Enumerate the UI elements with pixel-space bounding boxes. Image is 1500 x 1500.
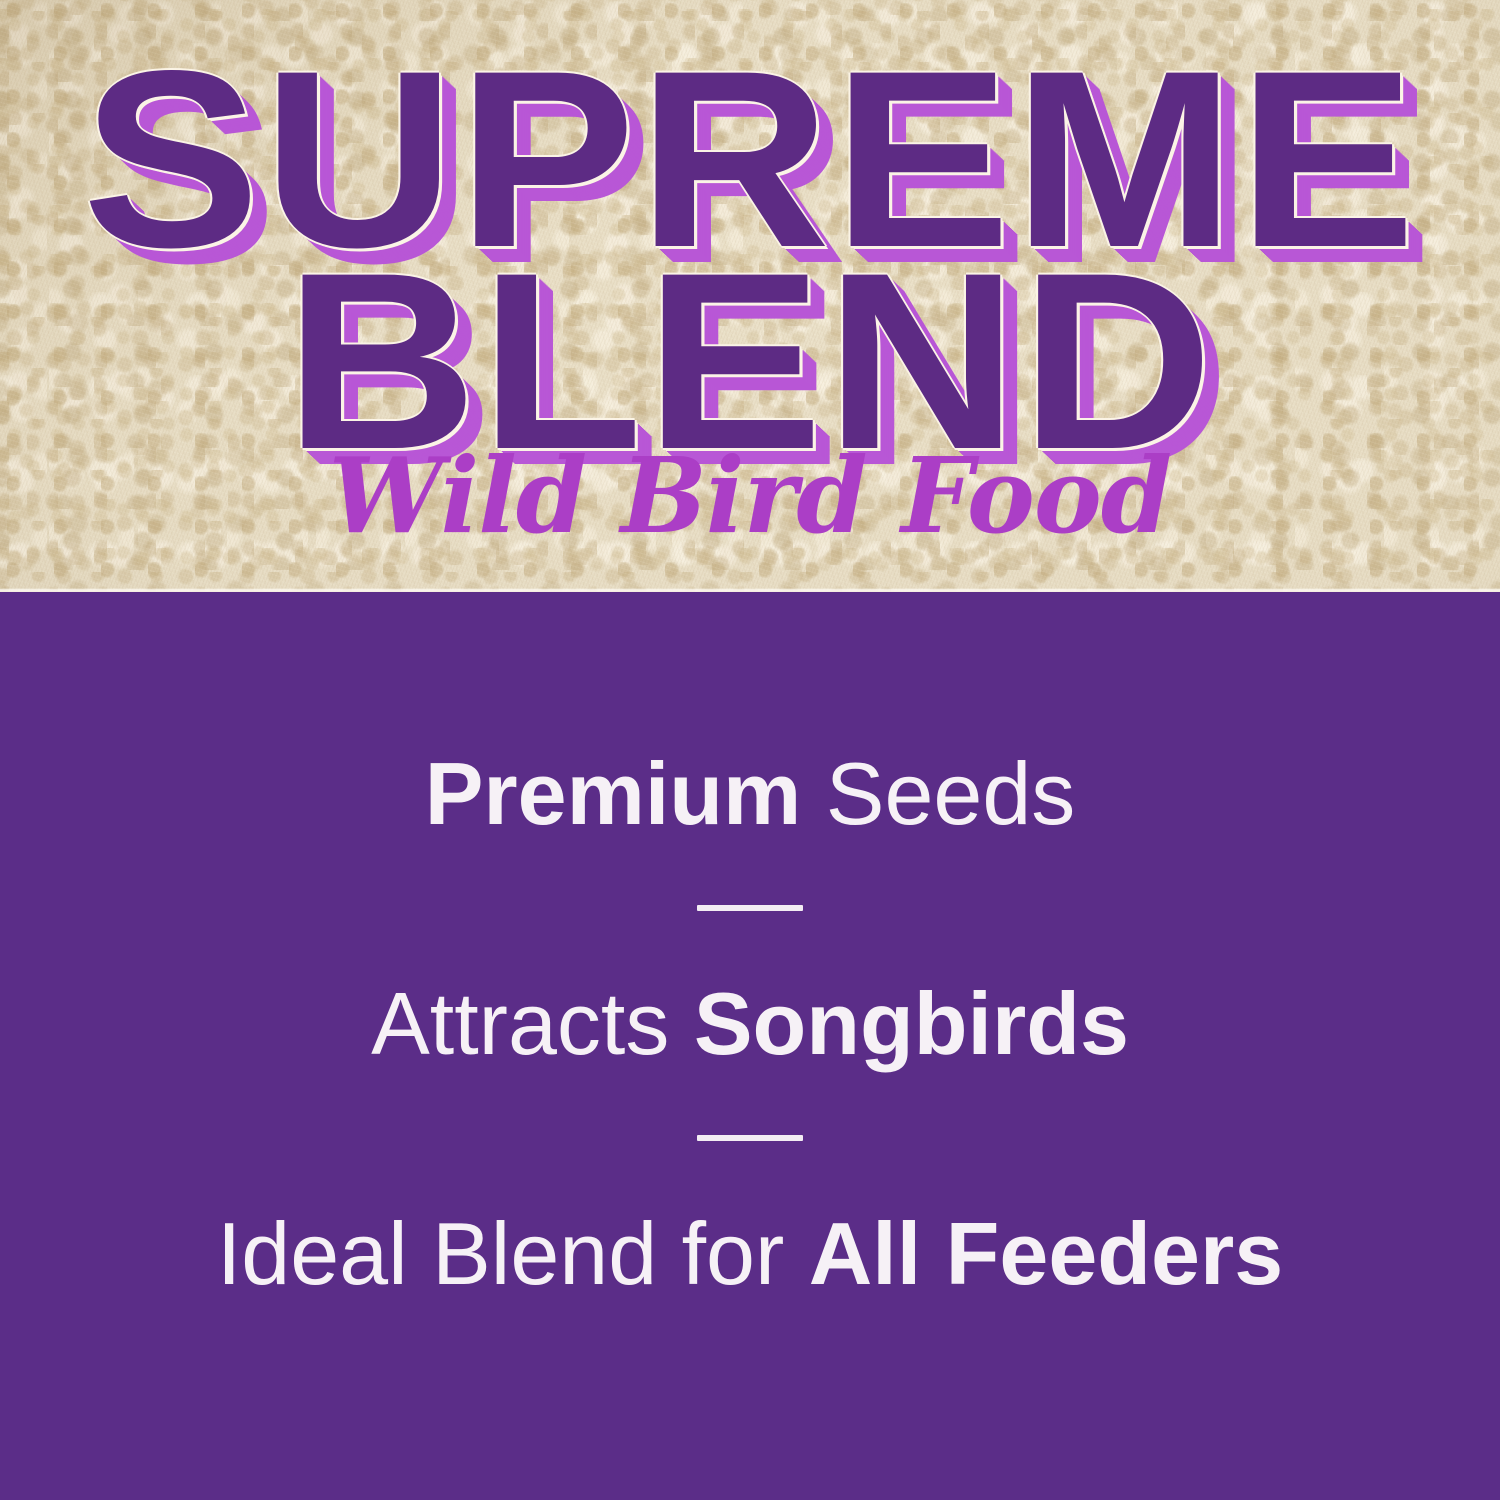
feature-text-emphasis: All Feeders [809, 1204, 1283, 1303]
feature-text-emphasis: Songbirds [694, 974, 1129, 1073]
feature-divider-1 [697, 905, 803, 911]
product-marketing-image: SUPREME BLEND Wild Bird Food Premium See… [0, 0, 1500, 1500]
feature-panel: Premium Seeds Attracts Songbirds Ideal B… [0, 592, 1500, 1500]
feature-text-emphasis: Premium [425, 744, 802, 843]
tagline-wild-bird-food: Wild Bird Food [15, 438, 1485, 554]
feature-item-ideal-blend-all-feeders: Ideal Blend for All Feeders [0, 1210, 1500, 1298]
feature-text-regular: Attracts [371, 974, 694, 1073]
feature-item-attracts-songbirds: Attracts Songbirds [0, 980, 1500, 1068]
feature-item-premium-seeds: Premium Seeds [0, 750, 1500, 838]
feature-text-regular: Ideal Blend for [217, 1204, 809, 1303]
feature-text-regular: Seeds [801, 744, 1075, 843]
feature-divider-2 [697, 1135, 803, 1141]
brand-logo-lockup: SUPREME BLEND Wild Bird Food [0, 0, 1500, 592]
